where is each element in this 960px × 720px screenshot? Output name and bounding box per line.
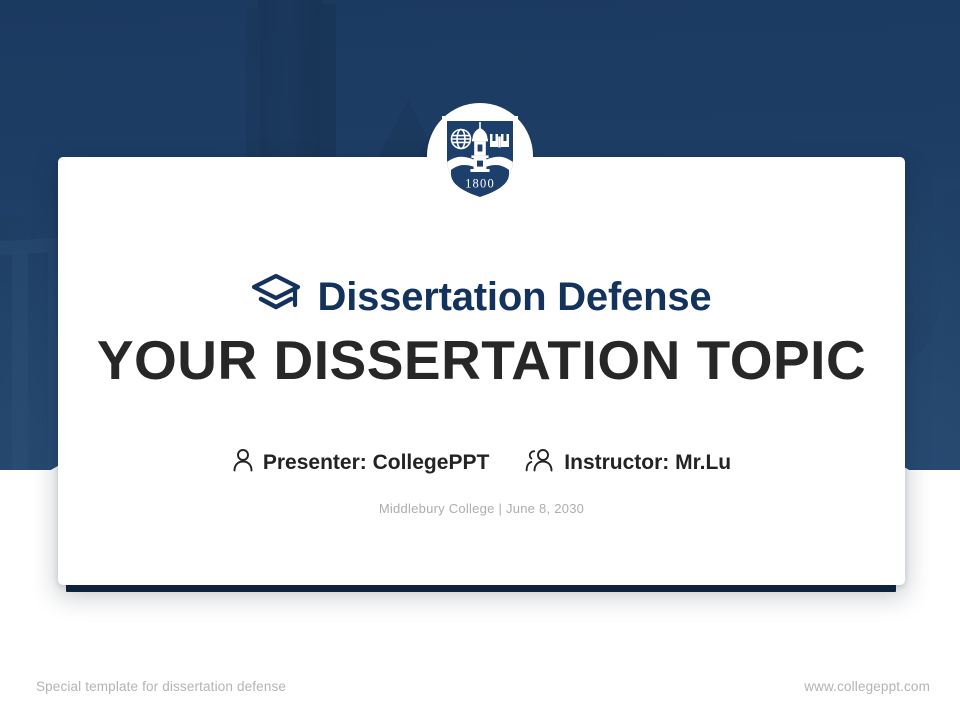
slide-headline: YOUR DISSERTATION TOPIC bbox=[58, 332, 905, 390]
title-card: Dissertation Defense YOUR DISSERTATION T… bbox=[58, 157, 905, 585]
instructor-item: Instructor: Mr.Lu bbox=[525, 448, 731, 477]
presenter-item: Presenter: CollegePPT bbox=[232, 448, 489, 477]
person-icon bbox=[232, 448, 254, 477]
slide-kicker: Dissertation Defense bbox=[318, 277, 712, 317]
instructor-label: Instructor: Mr.Lu bbox=[564, 452, 731, 473]
crest-year: 1800 bbox=[465, 177, 495, 191]
slide-meta: Middlebury College | June 8, 2030 bbox=[58, 501, 905, 516]
people-group-icon bbox=[525, 448, 555, 477]
presentation-slide: Dissertation Defense YOUR DISSERTATION T… bbox=[0, 0, 960, 720]
kicker-row: Dissertation Defense bbox=[58, 273, 905, 320]
graduation-cap-icon bbox=[252, 273, 300, 320]
people-row: Presenter: CollegePPT Instructor: Mr.Lu bbox=[58, 448, 905, 477]
presenter-label: Presenter: CollegePPT bbox=[263, 452, 489, 473]
university-crest-icon: 1800 bbox=[427, 103, 533, 209]
globe-icon bbox=[452, 130, 471, 149]
footer-left-text: Special template for dissertation defens… bbox=[36, 679, 286, 694]
footer-right-text: www.collegeppt.com bbox=[804, 679, 930, 694]
